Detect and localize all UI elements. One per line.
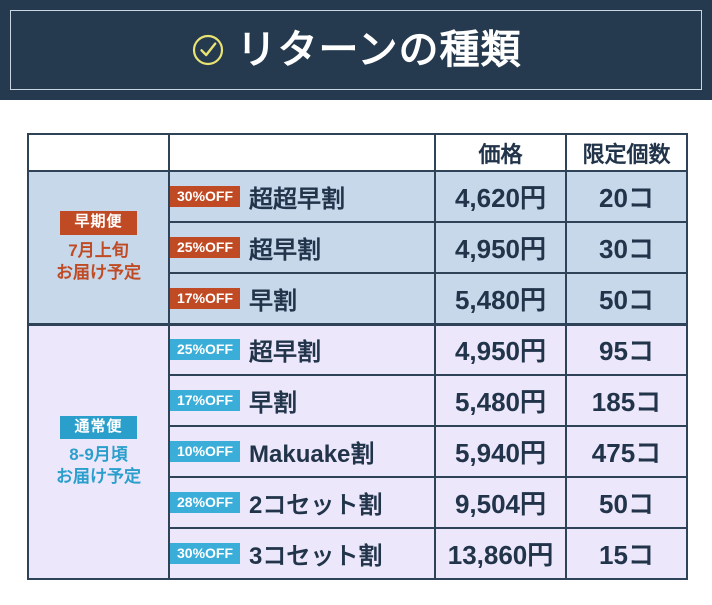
plan-cell: 30%OFF 超超早割 (169, 171, 435, 222)
shipping-note-normal: 8-9月頃 お届け予定 (29, 444, 168, 488)
price-cell: 4,620円 (435, 171, 566, 222)
page-title: リターンの種類 (237, 30, 522, 70)
returns-table-container: 価格 限定個数 早期便 7月上旬 お届け予定 30%OFF 超超早割 4,620… (27, 133, 686, 580)
plan-cell: 25%OFF 超早割 (169, 222, 435, 273)
price-cell: 4,950円 (435, 324, 566, 375)
price-cell: 13,860円 (435, 528, 566, 579)
circle-check-icon (191, 33, 225, 67)
plan-cell: 30%OFF 3コセット割 (169, 528, 435, 579)
discount-badge: 30%OFF (170, 186, 240, 207)
shipping-badge-normal: 通常便 (60, 416, 136, 440)
discount-badge: 17%OFF (170, 390, 240, 411)
plan-name: 超超早割 (249, 179, 345, 214)
shipping-badge-early: 早期便 (60, 211, 136, 235)
table-row: 早期便 7月上旬 お届け予定 30%OFF 超超早割 4,620円 20コ (28, 171, 687, 222)
quantity-cell: 475コ (566, 426, 687, 477)
plan-name: 早割 (249, 383, 297, 418)
header-price: 価格 (435, 134, 566, 171)
discount-badge: 28%OFF (170, 492, 240, 513)
header-quantity: 限定個数 (566, 134, 687, 171)
plan-cell: 17%OFF 早割 (169, 375, 435, 426)
plan-name: 2コセット割 (249, 485, 382, 520)
plan-name: 超早割 (249, 332, 321, 367)
plan-cell: 17%OFF 早割 (169, 273, 435, 324)
table-header-row: 価格 限定個数 (28, 134, 687, 171)
header-plan-blank (169, 134, 435, 171)
discount-badge: 25%OFF (170, 339, 240, 360)
quantity-cell: 20コ (566, 171, 687, 222)
plan-name: 早割 (249, 281, 297, 316)
price-cell: 9,504円 (435, 477, 566, 528)
discount-badge: 25%OFF (170, 237, 240, 258)
quantity-cell: 95コ (566, 324, 687, 375)
plan-name: 超早割 (249, 230, 321, 265)
plan-cell: 25%OFF 超早割 (169, 324, 435, 375)
returns-table: 価格 限定個数 早期便 7月上旬 お届け予定 30%OFF 超超早割 4,620… (27, 133, 688, 580)
plan-cell: 10%OFF Makuake割 (169, 426, 435, 477)
discount-badge: 30%OFF (170, 543, 240, 564)
quantity-cell: 185コ (566, 375, 687, 426)
quantity-cell: 50コ (566, 477, 687, 528)
shipping-note-early: 7月上旬 お届け予定 (29, 240, 168, 284)
quantity-cell: 50コ (566, 273, 687, 324)
price-cell: 5,480円 (435, 375, 566, 426)
header-shipping-blank (28, 134, 169, 171)
price-cell: 4,950円 (435, 222, 566, 273)
shipping-cell-early: 早期便 7月上旬 お届け予定 (28, 171, 169, 324)
shipping-cell-normal: 通常便 8-9月頃 お届け予定 (28, 324, 169, 579)
quantity-cell: 30コ (566, 222, 687, 273)
discount-badge: 10%OFF (170, 441, 240, 462)
plan-cell: 28%OFF 2コセット割 (169, 477, 435, 528)
quantity-cell: 15コ (566, 528, 687, 579)
price-cell: 5,940円 (435, 426, 566, 477)
plan-name: Makuake割 (249, 434, 374, 469)
banner-inner-frame: リターンの種類 (10, 10, 702, 90)
price-cell: 5,480円 (435, 273, 566, 324)
table-row: 通常便 8-9月頃 お届け予定 25%OFF 超早割 4,950円 95コ (28, 324, 687, 375)
discount-badge: 17%OFF (170, 288, 240, 309)
plan-name: 3コセット割 (249, 536, 382, 571)
page-header-banner: リターンの種類 (0, 0, 712, 100)
